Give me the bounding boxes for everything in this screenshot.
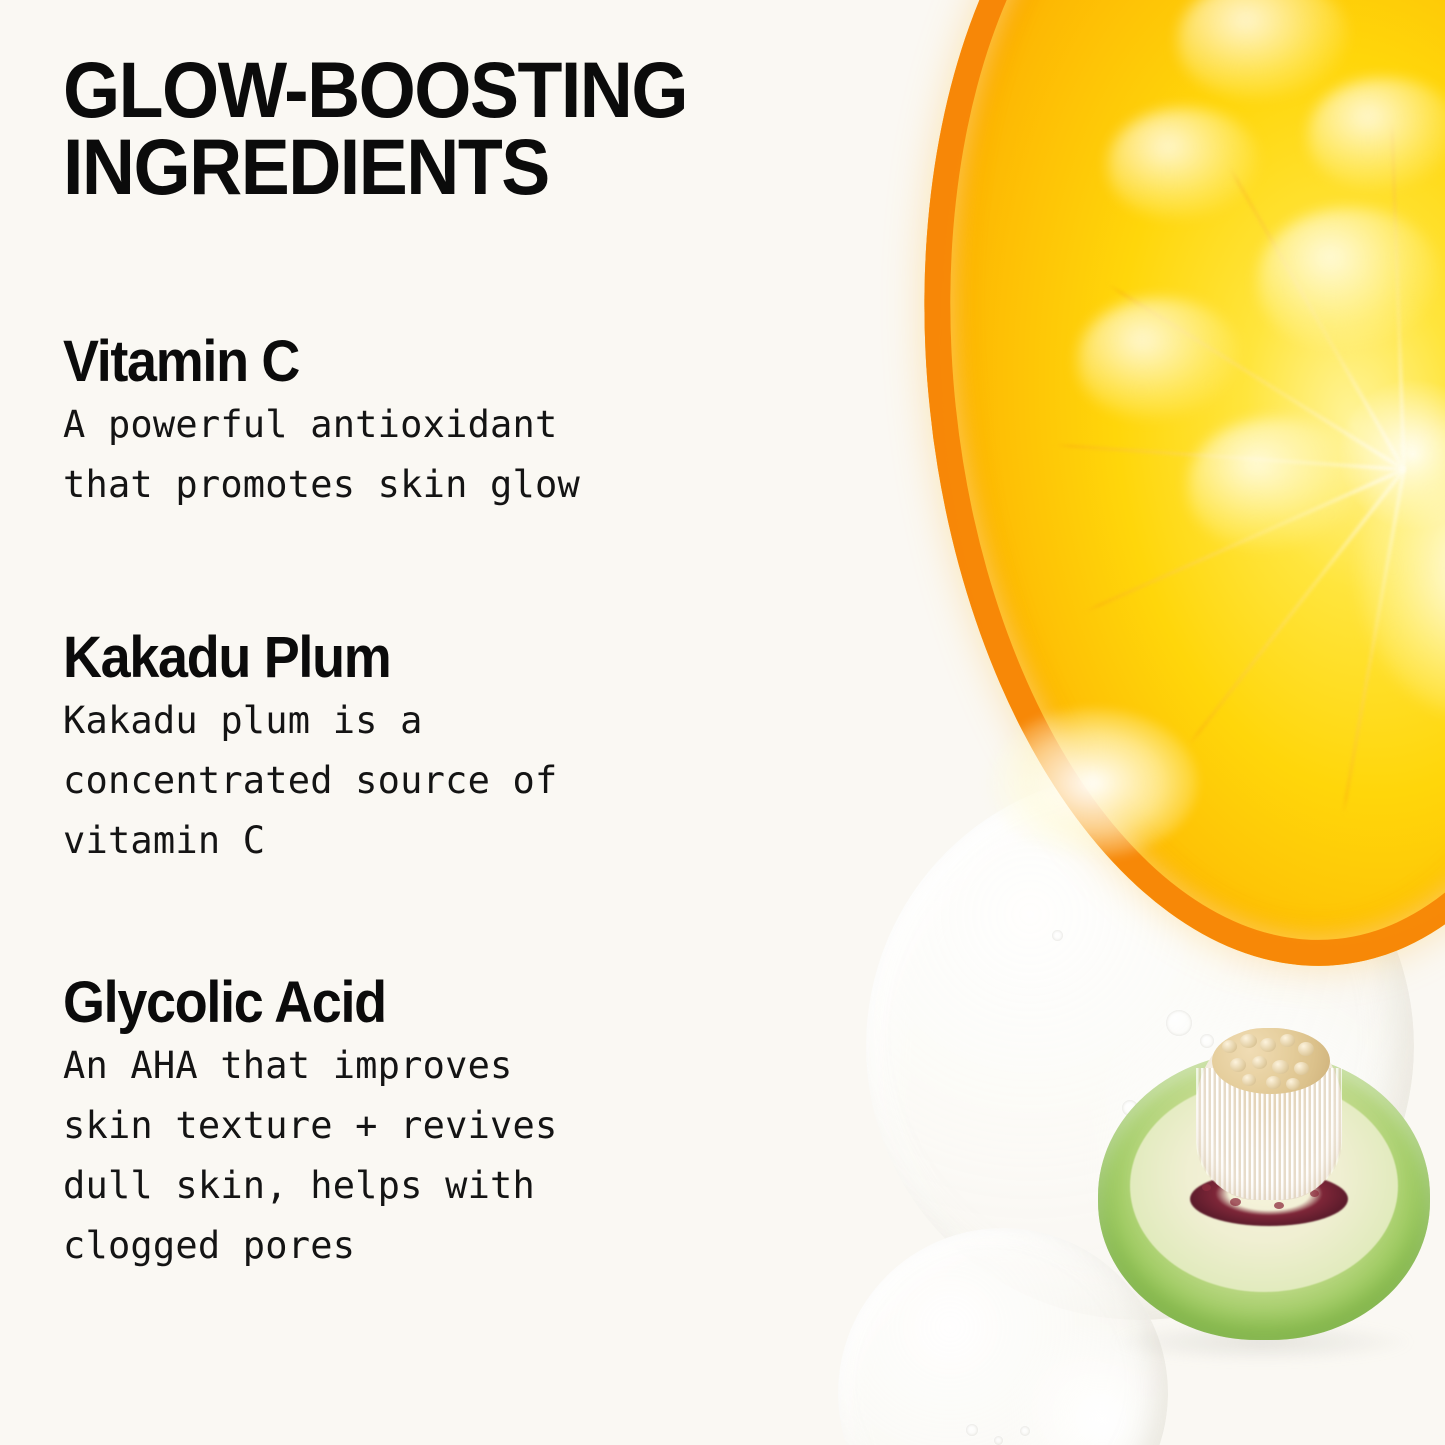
orange-slice-icon — [928, 0, 1445, 968]
fig-shadow — [1112, 1322, 1412, 1362]
ingredient-name: Vitamin C — [63, 332, 770, 391]
list-item: Kakadu Plum Kakadu plum is a concentrate… — [63, 628, 823, 871]
fig-slice-icon — [1098, 1022, 1430, 1340]
ingredient-infographic: GLOW-BOOSTING INGREDIENTS Vitamin C A po… — [0, 0, 1445, 1445]
content-column: GLOW-BOOSTING INGREDIENTS Vitamin C A po… — [63, 0, 823, 205]
ingredient-name: Glycolic Acid — [63, 973, 770, 1032]
list-item: Vitamin C A powerful antioxidant that pr… — [63, 332, 823, 515]
list-item: Glycolic Acid An AHA that improves skin … — [63, 973, 823, 1276]
gel-blob-large-icon — [866, 772, 1414, 1320]
ingredient-name: Kakadu Plum — [63, 628, 770, 687]
page-title: GLOW-BOOSTING INGREDIENTS — [63, 0, 770, 205]
gel-blob-small-icon — [838, 1228, 1168, 1445]
ingredient-description: A powerful antioxidant that promotes ski… — [63, 395, 823, 515]
ingredient-description: An AHA that improves skin texture + revi… — [63, 1036, 823, 1276]
ingredient-description: Kakadu plum is a concentrated source of … — [63, 691, 823, 871]
